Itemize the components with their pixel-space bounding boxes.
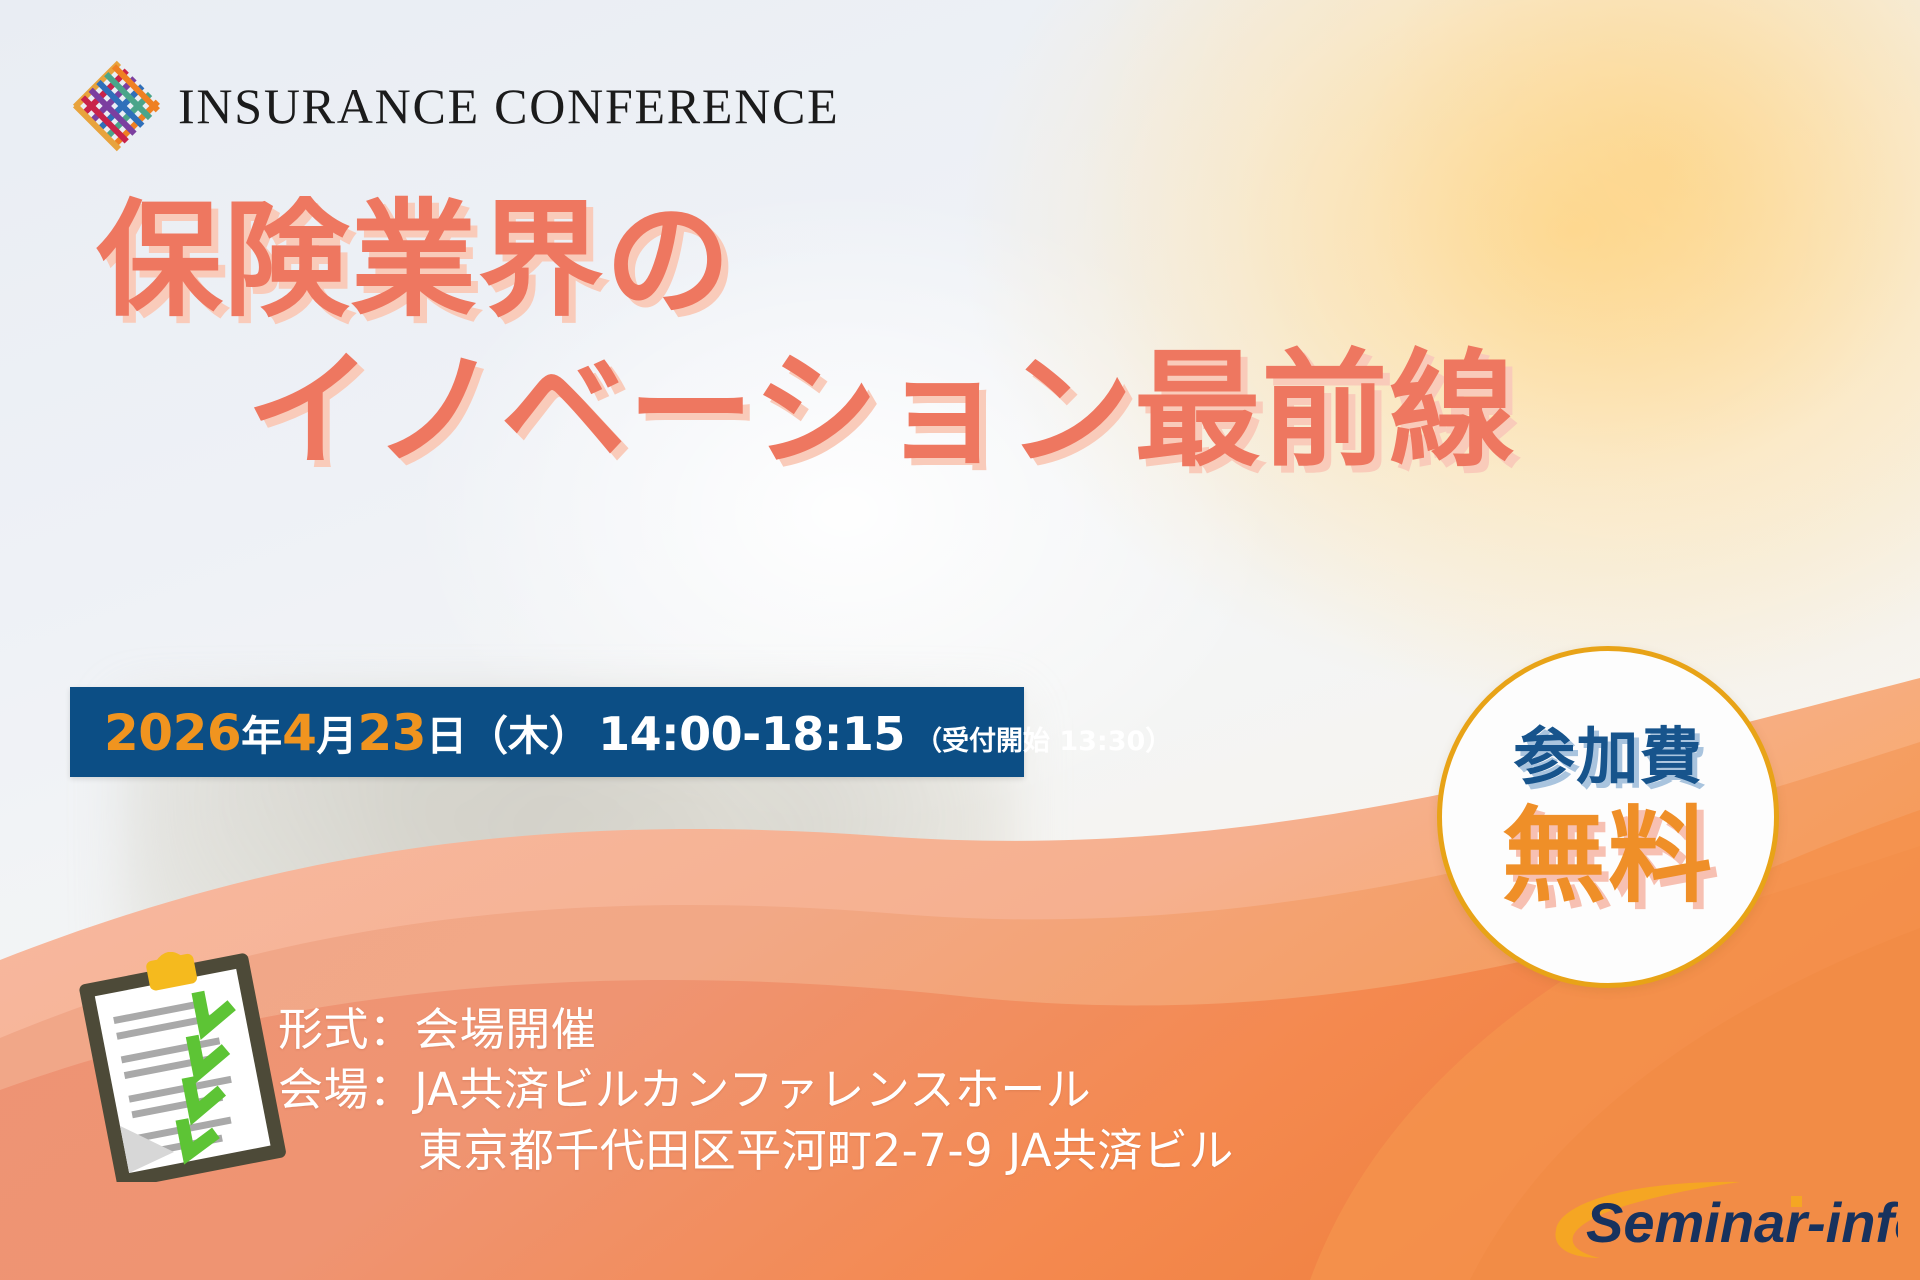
clipboard-checklist-icon bbox=[62, 952, 312, 1182]
reception-note: （受付開始 13:30） bbox=[905, 719, 1172, 758]
seminar-info-logo[interactable]: Seminar-info bbox=[1548, 1178, 1898, 1270]
status-badge-free: 参加費 無料 bbox=[1437, 646, 1779, 988]
date-weekday: （木） bbox=[467, 702, 590, 762]
date-month: 4 bbox=[282, 704, 316, 762]
date-year: 2026 bbox=[104, 704, 241, 762]
info-address: 東京都千代田区平河町2-7-9 JA共済ビル bbox=[278, 1121, 1234, 1181]
date-banner: 2026 年 4 月 23 日 （木） 14:00-18:15 （受付開始 13… bbox=[70, 687, 1024, 777]
date-day: 23 bbox=[357, 704, 426, 762]
chevron-stripes-logo-icon bbox=[68, 60, 160, 152]
event-time: 14:00-18:15 bbox=[590, 707, 905, 761]
event-poster: INSURANCE CONFERENCE 保険業界の イノベーション最前線 20… bbox=[0, 0, 1920, 1280]
date-day-unit: 日 bbox=[426, 702, 467, 762]
date-line: 2026 年 4 月 23 日 （木） 14:00-18:15 （受付開始 13… bbox=[70, 702, 1172, 762]
badge-label-fee: 参加費 bbox=[1513, 726, 1703, 788]
page-title-line1: 保険業界の bbox=[96, 198, 732, 324]
page-title-line2: イノベーション最前線 bbox=[246, 348, 1516, 474]
date-year-unit: 年 bbox=[241, 702, 282, 762]
info-format: 形式：会場開催 bbox=[278, 1000, 1234, 1060]
brand-name: INSURANCE CONFERENCE bbox=[178, 77, 839, 135]
brand-header: INSURANCE CONFERENCE bbox=[68, 60, 839, 152]
date-month-unit: 月 bbox=[316, 702, 357, 762]
event-info-block: 形式：会場開催 会場：JA共済ビルカンファレンスホール 東京都千代田区平河町2-… bbox=[278, 1000, 1234, 1181]
badge-label-free: 無料 bbox=[1502, 804, 1714, 908]
info-venue: 会場：JA共済ビルカンファレンスホール bbox=[278, 1060, 1234, 1120]
seminar-info-logo-text: Seminar-info bbox=[1586, 1191, 1898, 1254]
